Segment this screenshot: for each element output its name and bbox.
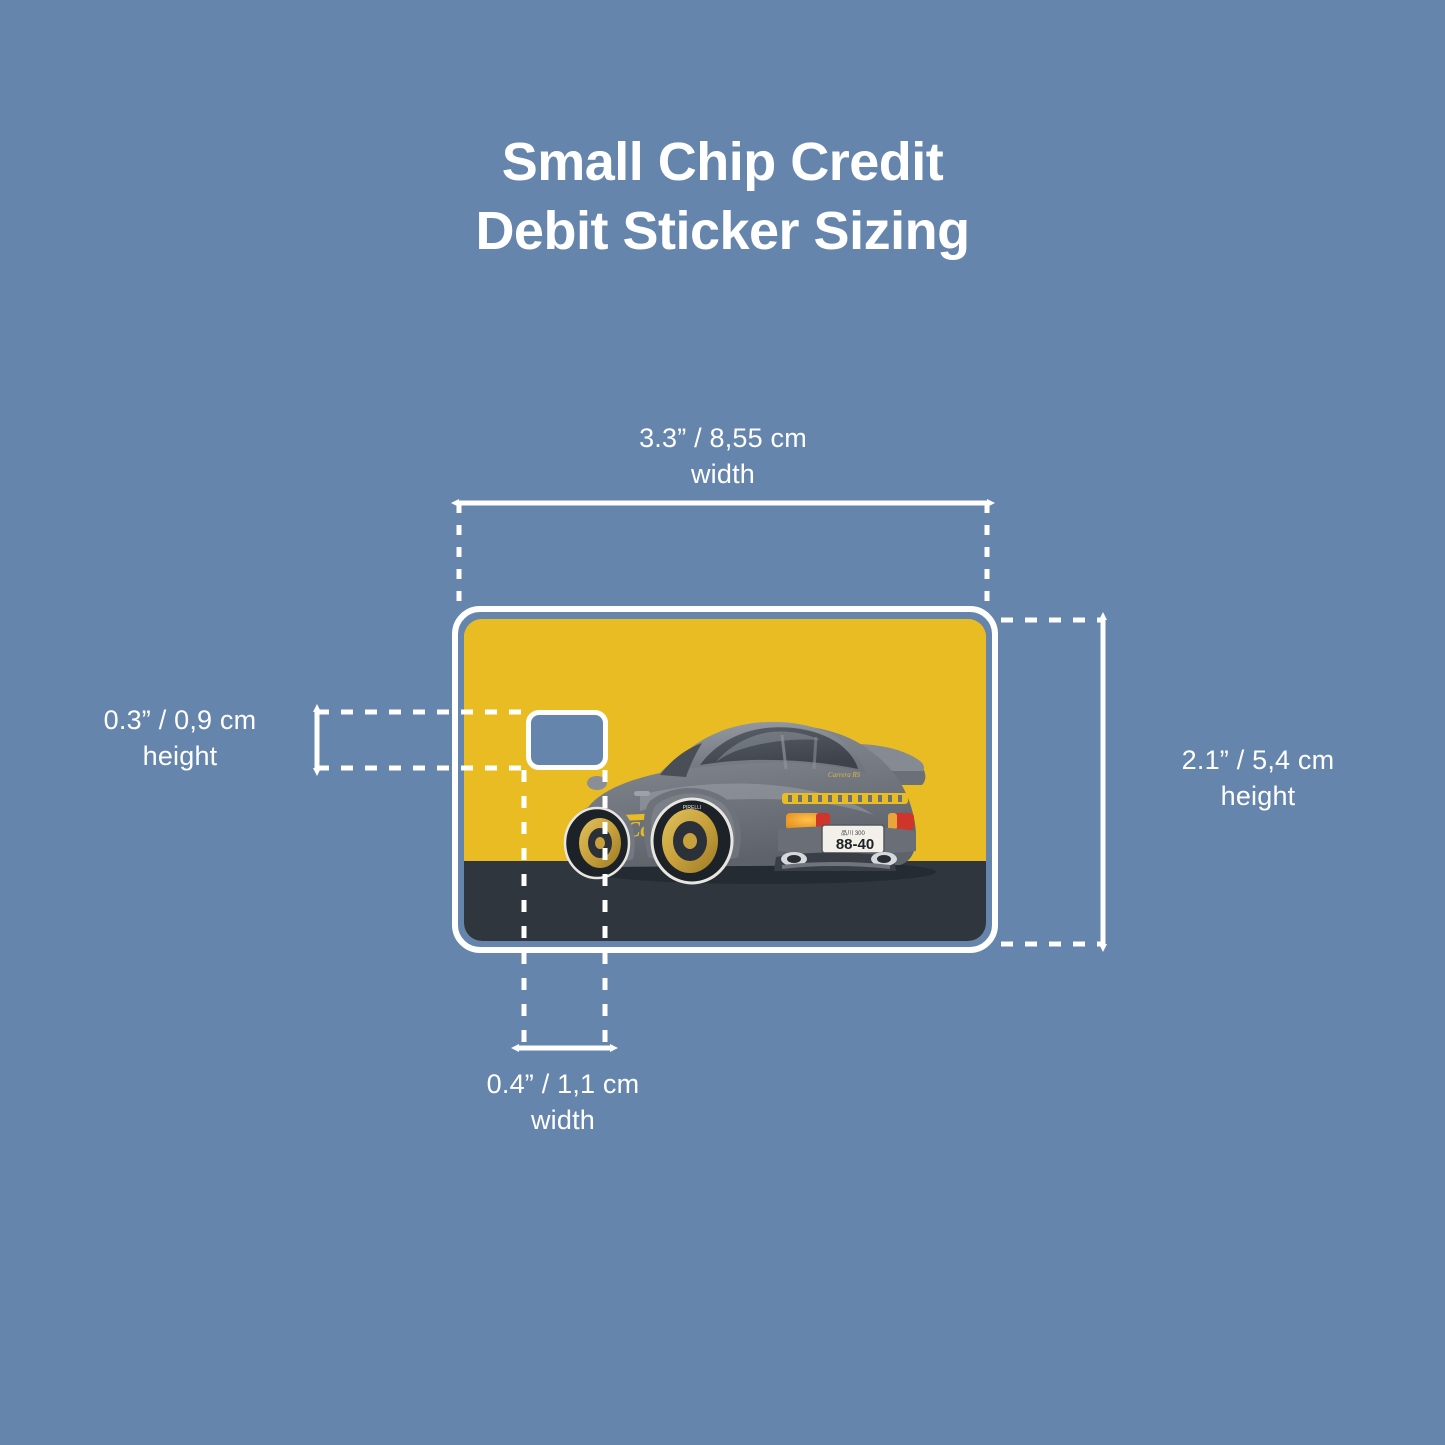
plate-number: 88-40 [836,836,874,853]
label-card-width-unit: width [523,457,923,493]
label-card-height: 2.1” / 5,4 cm height [1128,743,1388,815]
label-chip-height-value: 0.3” / 0,9 cm [104,705,257,735]
svg-text:PIRELLI: PIRELLI [683,805,702,811]
page-title-line-1: Small Chip Credit [0,128,1445,197]
rear-badge: Carrera RS [828,771,861,779]
label-chip-width-unit: width [443,1103,683,1139]
page-title: Small Chip Credit Debit Sticker Sizing [0,128,1445,266]
decklid-porsche-script [782,793,908,804]
page-title-line-2: Debit Sticker Sizing [0,197,1445,266]
label-card-height-unit: height [1128,779,1388,815]
dimline-card-height [1001,620,1104,944]
label-card-height-value: 2.1” / 5,4 cm [1182,745,1335,775]
chip-cutout [526,710,608,770]
porsche-911-illustration: Carrera RS Carrera 品川 300 88-40 [464,619,986,941]
label-chip-width: 0.4” / 1,1 cm width [443,1067,683,1139]
license-plate: 品川 300 88-40 [822,825,884,853]
label-card-width-value: 3.3” / 8,55 cm [639,423,807,453]
label-chip-width-value: 0.4” / 1,1 cm [487,1069,640,1099]
rear-wheel: PIRELLI [652,799,732,883]
side-mirror [587,776,607,790]
label-chip-height-unit: height [60,739,300,775]
card-artwork: Carrera RS Carrera 品川 300 88-40 [464,619,986,941]
dimline-card-width [459,503,987,607]
label-card-width: 3.3” / 8,55 cm width [523,421,923,493]
front-wheel [565,808,629,878]
sizing-diagram: Small Chip Credit Debit Sticker Sizing [0,0,1445,1445]
label-chip-height: 0.3” / 0,9 cm height [60,703,300,775]
